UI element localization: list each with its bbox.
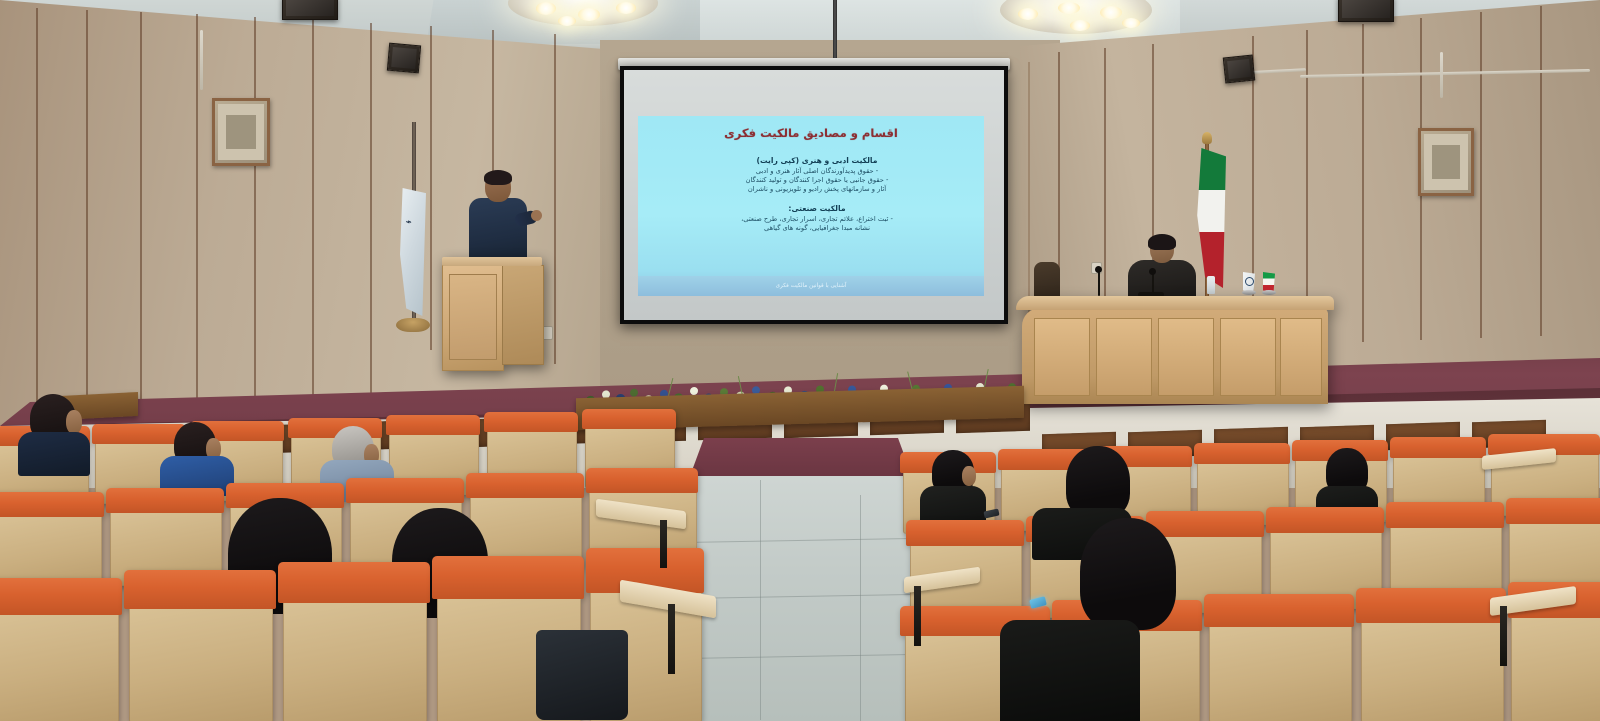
stage-carpet-runner bbox=[690, 438, 912, 476]
speaker-grille bbox=[1227, 59, 1251, 79]
audience-torso bbox=[18, 432, 90, 476]
wall-seam bbox=[254, 17, 256, 433]
light-bulb bbox=[1122, 18, 1140, 28]
framed-picture-left bbox=[212, 98, 270, 166]
framed-picture-right bbox=[1418, 128, 1474, 196]
slide-bullet-line: - حقوق پدیدآورندگان اصلی آثار هنری و ادب… bbox=[672, 167, 962, 176]
seat-cushion bbox=[0, 492, 104, 517]
seat-cushion bbox=[1146, 511, 1264, 537]
wall-conduit bbox=[1440, 52, 1443, 98]
seat[interactable] bbox=[124, 570, 276, 721]
slide-body: مالکیت ادبی و هنری (کپی رایت) - حقوق پدی… bbox=[672, 156, 962, 233]
wall-seam bbox=[312, 20, 314, 430]
flag-emblem: ⌁ bbox=[405, 215, 421, 229]
seat-cushion bbox=[432, 556, 584, 599]
wall-seam bbox=[1540, 6, 1542, 336]
water-bottle bbox=[1207, 276, 1215, 294]
seat-cushion bbox=[1386, 502, 1504, 528]
presenter-torso bbox=[469, 198, 527, 264]
microphone-capsule bbox=[1095, 266, 1102, 273]
speaker-grille bbox=[1342, 0, 1390, 18]
head-table bbox=[1016, 296, 1334, 408]
wall-seam bbox=[86, 10, 88, 438]
seat-cushion bbox=[1356, 588, 1506, 623]
seat-back bbox=[1361, 617, 1504, 721]
auditorium-photo: اقسام و مصادیق مالکیت فکری مالکیت ادبی و… bbox=[0, 0, 1600, 721]
seat-cushion bbox=[106, 488, 224, 513]
wall-seam bbox=[140, 12, 142, 436]
speaker-grille bbox=[286, 0, 334, 16]
slide-bullet-line: - ثبت اختراع، علائم تجاری، اسرار تجاری، … bbox=[672, 215, 962, 224]
seat-back bbox=[0, 609, 119, 721]
flower bbox=[630, 389, 638, 397]
slide-section-heading: مالکیت ادبی و هنری (کپی رایت) bbox=[672, 156, 962, 165]
seat[interactable] bbox=[1356, 588, 1506, 721]
light-bulb bbox=[536, 2, 556, 15]
table-microphone-left bbox=[1098, 272, 1100, 296]
wall-seam bbox=[196, 14, 198, 434]
panelist-hair bbox=[1148, 234, 1176, 250]
seat-cushion bbox=[466, 473, 584, 498]
slide-bullet-line: - حقوق جانبی یا حقوق اجرا کنندگان و تولی… bbox=[672, 176, 962, 185]
light-bulb bbox=[558, 16, 576, 26]
flag-base-left bbox=[396, 318, 430, 332]
picture-art bbox=[1432, 145, 1460, 180]
wall-seam bbox=[370, 23, 372, 427]
seat-cushion bbox=[1266, 507, 1384, 533]
head-table-front bbox=[1022, 308, 1328, 404]
wall-seam bbox=[1362, 24, 1364, 342]
flag-finial bbox=[1202, 132, 1212, 144]
desk-flag-base bbox=[1242, 290, 1256, 295]
light-bulb bbox=[1018, 8, 1038, 20]
seat-cushion bbox=[0, 578, 122, 615]
light-bulb bbox=[578, 8, 600, 21]
flower-stem bbox=[984, 369, 989, 387]
desk-flag-emblem bbox=[1245, 277, 1254, 286]
presentation-slide: اقسام و مصادیق مالکیت فکری مالکیت ادبی و… bbox=[638, 116, 984, 296]
slide-spacer bbox=[672, 194, 962, 204]
podium-top bbox=[442, 257, 542, 266]
seat-cushion bbox=[484, 412, 578, 432]
slide-title: اقسام و مصادیق مالکیت فکری bbox=[638, 126, 984, 140]
podium-side-panel bbox=[502, 265, 544, 365]
wall-conduit bbox=[200, 30, 203, 90]
seat[interactable] bbox=[0, 492, 104, 588]
seat-back bbox=[283, 597, 428, 721]
seat-cushion bbox=[1194, 443, 1290, 464]
audience-face bbox=[962, 466, 976, 486]
light-bulb bbox=[1100, 6, 1122, 19]
seat-cushion bbox=[278, 562, 430, 603]
seat-cushion bbox=[124, 570, 276, 609]
seat-back bbox=[129, 603, 274, 721]
wall-seam bbox=[36, 8, 38, 438]
head-table-panel bbox=[1280, 318, 1322, 396]
wall-speaker-center-left bbox=[387, 43, 421, 74]
wall-speaker-right bbox=[1223, 55, 1256, 84]
seat-leg bbox=[914, 586, 921, 646]
seat-leg bbox=[668, 604, 675, 674]
screen-surface: اقسام و مصادیق مالکیت فکری مالکیت ادبی و… bbox=[624, 70, 1004, 320]
audience-head-hijab bbox=[1080, 518, 1176, 630]
picture-art bbox=[226, 115, 255, 150]
seat-leg bbox=[660, 520, 667, 568]
audience-face bbox=[66, 410, 82, 434]
slide-bullet-line: آثار و سازمانهای پخش رادیو و تلویزیونی و… bbox=[672, 185, 962, 194]
floor-tile-seam bbox=[860, 495, 861, 721]
wall-speaker-left bbox=[282, 0, 338, 20]
head-table-panel bbox=[1220, 318, 1276, 396]
audience-torso bbox=[1000, 620, 1140, 721]
head-table-top bbox=[1016, 296, 1334, 310]
seat-cushion bbox=[1506, 498, 1600, 524]
wall-seam bbox=[1480, 12, 1482, 338]
desk-flag-base bbox=[1262, 290, 1276, 295]
presenter-hand bbox=[531, 210, 542, 221]
seat-cushion bbox=[1390, 437, 1486, 458]
flower-stem bbox=[834, 373, 838, 391]
microphone-capsule bbox=[1149, 268, 1156, 275]
backpack bbox=[536, 630, 628, 720]
head-table-panel bbox=[1034, 318, 1090, 396]
podium-front-panel bbox=[442, 265, 504, 371]
seat-leg bbox=[1500, 606, 1507, 666]
light-bulb bbox=[1070, 20, 1090, 31]
seat[interactable] bbox=[1386, 502, 1504, 602]
seat-cushion bbox=[582, 409, 676, 429]
seat-back bbox=[1209, 622, 1352, 721]
flower-stem bbox=[668, 378, 673, 396]
seat[interactable] bbox=[1204, 594, 1354, 721]
slide-bullet-line: نشانه مبدا جغرافیایی، گونه های گیاهی bbox=[672, 224, 962, 233]
seat-cushion bbox=[346, 478, 464, 503]
desk-flag-institutional bbox=[1243, 272, 1255, 292]
seat-cushion bbox=[586, 468, 698, 493]
podium bbox=[442, 257, 542, 373]
slide-footer: آشنایی با قوانین مالکیت فکری bbox=[638, 276, 984, 296]
head-table-panel bbox=[1158, 318, 1214, 396]
seat[interactable] bbox=[0, 578, 122, 721]
light-bulb bbox=[1058, 2, 1080, 14]
light-bulb bbox=[616, 2, 636, 14]
desk-flag-iran bbox=[1263, 272, 1275, 292]
presenter bbox=[463, 172, 537, 264]
seat-back bbox=[1511, 613, 1600, 721]
flower bbox=[690, 387, 698, 395]
seat-cushion bbox=[386, 415, 480, 435]
seat-cushion bbox=[1204, 594, 1354, 627]
seat[interactable] bbox=[278, 562, 430, 721]
seat-cushion bbox=[906, 520, 1024, 546]
wall-seam bbox=[554, 34, 556, 364]
podium-inset bbox=[449, 274, 497, 360]
floor-tile-seam bbox=[760, 480, 761, 720]
head-table-panel bbox=[1096, 318, 1152, 396]
presenter-hair bbox=[484, 170, 512, 185]
wall-seam bbox=[430, 26, 432, 350]
slide-section-heading: مالکیت صنعتی: bbox=[672, 204, 962, 213]
projection-screen: اقسام و مصادیق مالکیت فکری مالکیت ادبی و… bbox=[620, 66, 1008, 324]
wall-speaker-right-top bbox=[1338, 0, 1394, 22]
seat-cushion bbox=[92, 424, 186, 444]
speaker-grille bbox=[391, 47, 417, 69]
